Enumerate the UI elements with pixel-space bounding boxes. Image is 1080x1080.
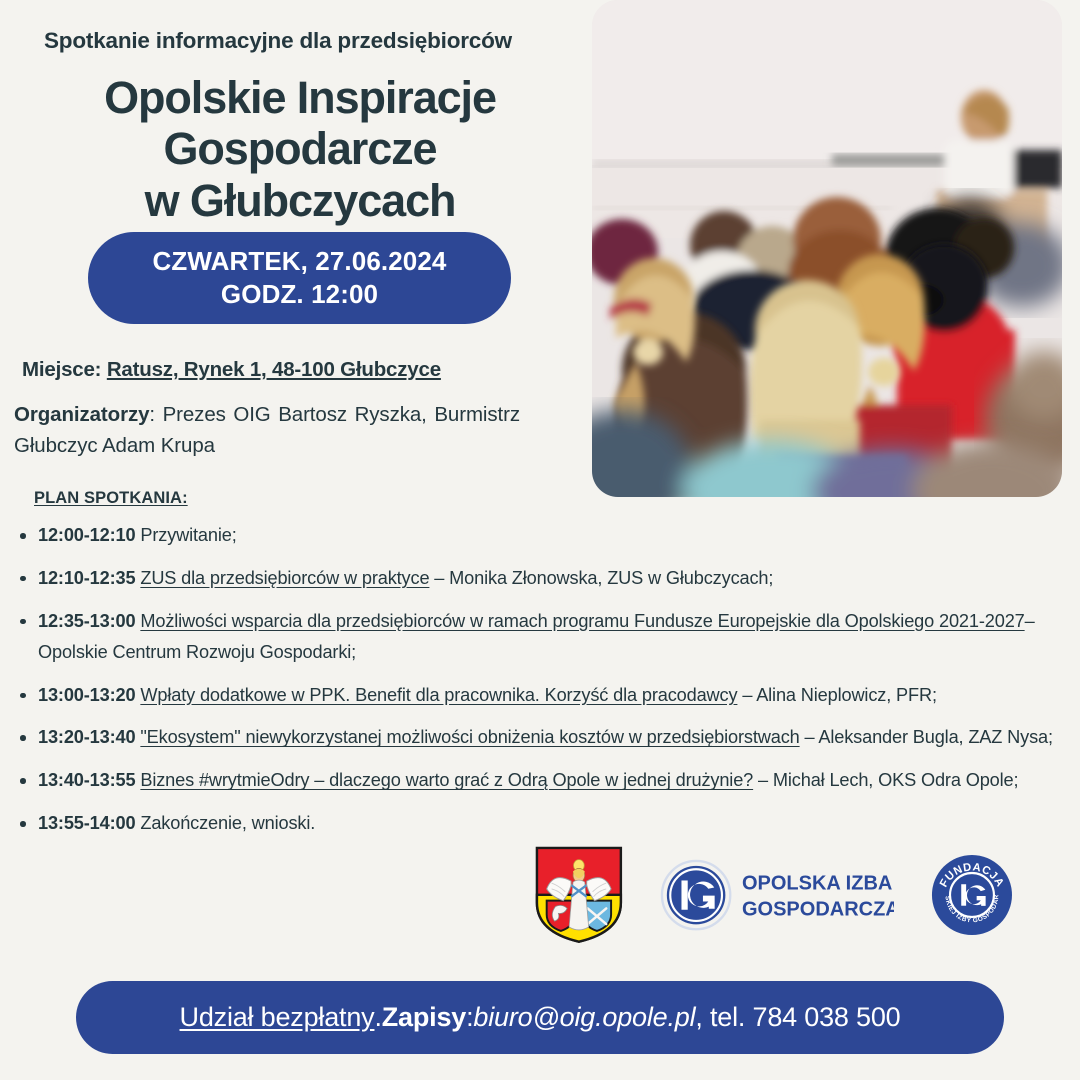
list-item: 13:20-13:40 "Ekosystem" niewykorzystanej… bbox=[14, 722, 1066, 753]
agenda-topic: Możliwości wsparcia dla przedsiębiorców … bbox=[140, 611, 1024, 631]
agenda-time: 13:20-13:40 bbox=[38, 727, 135, 747]
agenda-rest: Zakończenie, wnioski. bbox=[140, 813, 315, 833]
agenda-topic: ZUS dla przedsiębiorców w praktyce bbox=[140, 568, 429, 588]
list-item: 13:40-13:55 Biznes #wrytmieOdry – dlacze… bbox=[14, 765, 1066, 796]
agenda-topic: "Ekosystem" niewykorzystanej możliwości … bbox=[140, 727, 799, 747]
event-photo bbox=[592, 0, 1062, 497]
list-item: 12:00-12:10 Przywitanie; bbox=[14, 520, 1066, 551]
place-label: Miejsce: bbox=[22, 358, 101, 381]
agenda-time: 13:00-13:20 bbox=[38, 685, 135, 705]
agenda-topic: Biznes #wrytmieOdry – dlaczego warto gra… bbox=[140, 770, 753, 790]
agenda-label: PLAN SPOTKANIA: bbox=[34, 489, 188, 508]
list-item: 13:55-14:00 Zakończenie, wnioski. bbox=[14, 808, 1066, 839]
oig-text-line-1: OPOLSKA IZBA bbox=[742, 872, 892, 894]
lecture-audience-photo bbox=[592, 0, 1062, 497]
date-badge-line-1: CZWARTEK, 27.06.2024 bbox=[153, 245, 447, 278]
title-line-1: Opolskie Inspiracje bbox=[104, 72, 496, 123]
date-badge-line-2: GODZ. 12:00 bbox=[221, 278, 378, 311]
agenda-time: 13:55-14:00 bbox=[38, 813, 135, 833]
footer-phone: , tel. 784 038 500 bbox=[695, 1002, 900, 1033]
list-item: 12:35-13:00 Możliwości wsparcia dla prze… bbox=[14, 606, 1066, 669]
agenda-time: 12:35-13:00 bbox=[38, 611, 135, 631]
footer-free-text: Udział bezpłatny bbox=[180, 1002, 375, 1033]
footer-colon: : bbox=[466, 1002, 473, 1033]
organizers-label: Organizatorzy bbox=[14, 403, 149, 426]
oig-text-line-2: GOSPODARCZA bbox=[742, 899, 894, 921]
list-item: 13:00-13:20 Wpłaty dodatkowe w PPK. Bene… bbox=[14, 680, 1066, 711]
agenda-topic: Wpłaty dodatkowe w PPK. Benefit dla prac… bbox=[140, 685, 737, 705]
list-item: 12:10-12:35 ZUS dla przedsiębiorców w pr… bbox=[14, 563, 1066, 594]
agenda-list: 12:00-12:10 Przywitanie; 12:10-12:35 ZUS… bbox=[14, 520, 1066, 851]
footer-dot: . bbox=[374, 1002, 381, 1033]
footer-email[interactable]: biuro@oig.opole.pl bbox=[473, 1002, 695, 1033]
agenda-rest: – Michał Lech, OKS Odra Opole; bbox=[753, 770, 1018, 790]
place-line: Miejsce: Ratusz, Rynek 1, 48-100 Głubczy… bbox=[22, 358, 562, 382]
page-title: Opolskie Inspiracje Gospodarcze w Głubcz… bbox=[28, 72, 572, 226]
kicker-text: Spotkanie informacyjne dla przedsiębiorc… bbox=[44, 28, 564, 54]
agenda-rest: – Aleksander Bugla, ZAZ Nysa; bbox=[800, 727, 1053, 747]
title-line-2: Gospodarcze bbox=[164, 123, 437, 174]
agenda-rest: – Alina Nieplowicz, PFR; bbox=[737, 685, 936, 705]
date-badge: CZWARTEK, 27.06.2024 GODZ. 12:00 bbox=[88, 232, 511, 324]
fundacja-oig-logo: FUNDACJA OPOLSKIEJ IZBY GOSPODARCZEJ bbox=[930, 853, 1014, 939]
agenda-time: 12:10-12:35 bbox=[38, 568, 135, 588]
agenda-rest: Przywitanie; bbox=[140, 525, 236, 545]
footer-contact-bar: Udział bezpłatny. Zapisy: biuro@oig.opol… bbox=[76, 981, 1004, 1054]
oig-logo: OPOLSKA IZBA GOSPODARCZA bbox=[660, 859, 894, 933]
agenda-time: 13:40-13:55 bbox=[38, 770, 135, 790]
organizers-line: Organizatorzy: Prezes OIG Bartosz Ryszka… bbox=[14, 400, 520, 462]
title-line-3: w Głubczycach bbox=[145, 175, 456, 226]
crest-glubczyce-icon bbox=[534, 846, 624, 946]
agenda-rest: – Monika Złonowska, ZUS w Głubczycach; bbox=[429, 568, 773, 588]
place-value: Ratusz, Rynek 1, 48-100 Głubczyce bbox=[107, 358, 441, 381]
agenda-time: 12:00-12:10 bbox=[38, 525, 135, 545]
footer-signup-label: Zapisy bbox=[382, 1002, 466, 1033]
logo-row: OPOLSKA IZBA GOSPODARCZA FUNDACJA OPOLSK… bbox=[534, 845, 1014, 947]
